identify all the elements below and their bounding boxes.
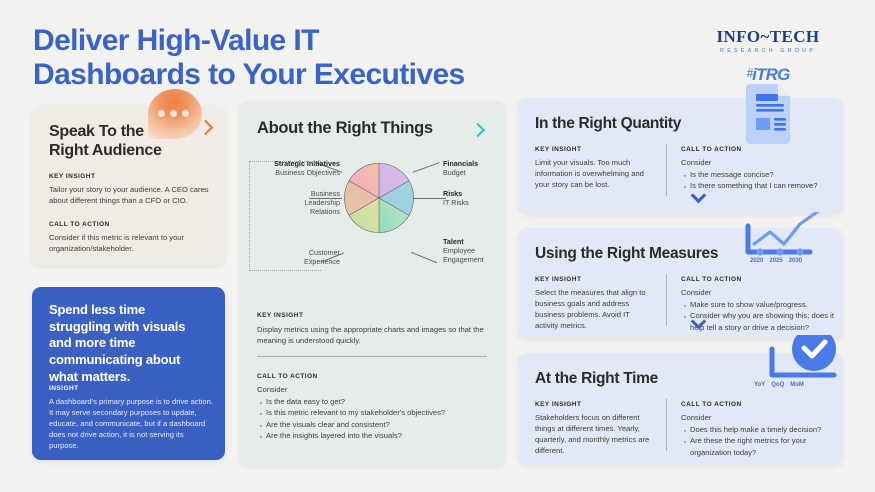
key-insight-label: KEY INSIGHT	[535, 276, 653, 283]
document-icon	[746, 82, 796, 144]
card-in-the-right-quantity[interactable]: In the Right Quantity KEY INSIGHT Limit …	[518, 98, 843, 213]
card-at-the-right-time[interactable]: At the Right Time KEY INSIGHT Stakeholde…	[518, 353, 843, 465]
list-item: Is the data easy to get?	[257, 396, 492, 407]
key-insight-label: KEY INSIGHT	[49, 173, 209, 180]
card-quote-communicate: Spend less time struggling with visuals …	[32, 287, 225, 460]
call-to-action-section: CALL TO ACTION Consider if this metric i…	[49, 221, 209, 254]
insight-text: A dashboard's primary purpose is to driv…	[49, 396, 214, 451]
key-insight-label: KEY INSIGHT	[257, 312, 485, 319]
key-insight-label: KEY INSIGHT	[535, 401, 653, 408]
pie-label-risks: Risks IT Risks	[443, 189, 505, 207]
pie-label-title: Strategic Initiatives	[274, 159, 340, 168]
key-insight-section: KEY INSIGHT Limit your visuals. Too much…	[535, 146, 653, 190]
axis-tick-label: YoY	[754, 382, 765, 388]
list-item: Is there something that I can remove?	[681, 180, 841, 191]
call-to-action-section: CALL TO ACTION Consider Does this help m…	[681, 401, 841, 458]
section-divider	[257, 356, 487, 357]
key-insight-section: KEY INSIGHT Display metrics using the ap…	[257, 312, 485, 346]
key-insight-label: KEY INSIGHT	[535, 146, 653, 153]
chevron-right-icon[interactable]	[471, 123, 485, 137]
key-insight-section: KEY INSIGHT Select the measures that ali…	[535, 276, 653, 331]
pie-chart-icon	[343, 162, 415, 234]
cta-label: CALL TO ACTION	[49, 221, 209, 228]
chart-axis-labels: 2020 2025 2030	[750, 258, 802, 264]
column-divider	[666, 144, 667, 196]
pie-label-sub: IT Risks	[443, 198, 469, 207]
call-to-action-section: CALL TO ACTION Consider Make sure to sho…	[681, 276, 841, 333]
pie-label-title: Financials	[443, 159, 478, 168]
axis-tick-label: MoM	[790, 382, 804, 388]
page-title-line1: Deliver High-Value IT	[33, 24, 319, 57]
axis-tick-label: 2020	[750, 258, 763, 264]
cta-list: Does this help make a timely decision? A…	[681, 424, 841, 458]
bubble-dots	[158, 110, 189, 117]
key-insight-section: KEY INSIGHT Tailor your story to your au…	[49, 173, 209, 206]
card-heading: About the Right Things	[257, 119, 433, 138]
list-item: Are the visuals clear and consistent?	[257, 419, 492, 430]
cta-label: CALL TO ACTION	[681, 401, 841, 408]
cta-list: Is the message concise? Is there somethi…	[681, 169, 841, 192]
pie-label-customer-experience: CustomerExperience	[244, 248, 340, 266]
pie-label-talent: Talent EmployeeEngagement	[443, 237, 505, 265]
key-insight-text: Tailor your story to your audience. A CE…	[49, 184, 209, 206]
infographic-page: Deliver High-Value IT Dashboards to Your…	[0, 0, 875, 492]
insight-label: INSIGHT	[49, 385, 214, 392]
card-heading: In the Right Quantity	[535, 115, 681, 133]
axis-tick-label: QoQ	[771, 382, 784, 388]
pie-label-financials: Financials Budget	[443, 159, 505, 177]
leader-line	[413, 162, 440, 173]
column-divider	[666, 399, 667, 451]
card-heading: At the Right Time	[535, 370, 658, 388]
axis-tick-label: 2025	[769, 258, 782, 264]
call-to-action-section: CALL TO ACTION Consider Is the message c…	[681, 146, 841, 192]
axis-tick-label: 2030	[789, 258, 802, 264]
page-title: Deliver High-Value IT Dashboards to Your…	[33, 24, 553, 92]
pie-label-sub: EmployeeEngagement	[443, 246, 484, 264]
pie-label-title: Risks	[443, 189, 462, 198]
pie-label-strategic-initiatives: Strategic Initiatives Business Objective…	[244, 159, 340, 177]
leader-line	[411, 252, 437, 263]
cta-intro: Consider	[681, 157, 841, 168]
card-heading: Using the Right Measures	[535, 245, 718, 263]
list-item: Is the message concise?	[681, 169, 841, 180]
cta-list: Is the data easy to get? Is this metric …	[257, 396, 492, 442]
key-insight-text: Limit your visuals. Too much information…	[535, 157, 653, 190]
card-using-the-right-measures[interactable]: Using the Right Measures KEY INSIGHT Sel…	[518, 228, 843, 338]
logo-wordmark: INFO~TECH	[693, 28, 843, 45]
speech-bubble-icon	[148, 89, 202, 139]
key-insight-section: KEY INSIGHT Stakeholders focus on differ…	[535, 401, 653, 456]
quote-text: Spend less time struggling with visuals …	[49, 302, 199, 385]
cta-intro: Consider	[257, 384, 492, 395]
list-item: Does this help make a timely decision?	[681, 424, 841, 435]
cta-intro: Consider	[681, 287, 841, 298]
column-divider	[666, 274, 667, 326]
cta-text: Consider if this metric is relevant to y…	[49, 232, 209, 254]
cta-label: CALL TO ACTION	[681, 276, 841, 283]
pie-label-business-leadership-relations: BusinessLeadershipRelations	[244, 189, 340, 217]
list-item: Are these the right metrics for your org…	[681, 435, 841, 458]
pie-label-title: Talent	[443, 237, 464, 246]
cta-intro: Consider	[681, 412, 841, 423]
list-item: Make sure to show value/progress.	[681, 299, 841, 310]
card-about-right-things[interactable]: About the Right Things	[240, 101, 505, 466]
leader-line	[413, 198, 446, 199]
page-title-line2: Dashboards to Your Executives	[33, 58, 553, 92]
pie-chart-figure: Strategic Initiatives Business Objective…	[240, 157, 505, 277]
chart-axis-labels: YoY QoQ MoM	[754, 382, 804, 388]
list-item: Is this metric relevant to my stakeholde…	[257, 407, 492, 418]
pie-label-sub: Business Objectives	[275, 168, 340, 177]
pie-label-sub: Budget	[443, 168, 466, 177]
cta-label: CALL TO ACTION	[257, 373, 492, 380]
list-item: Are the insights layered into the visual…	[257, 430, 492, 441]
key-insight-text: Stakeholders focus on different things a…	[535, 412, 653, 456]
logo-tagline: RESEARCH GROUP	[693, 48, 843, 54]
cta-list: Make sure to show value/progress. Consid…	[681, 299, 841, 333]
call-to-action-section: CALL TO ACTION Consider Is the data easy…	[257, 373, 492, 442]
key-insight-text: Display metrics using the appropriate ch…	[257, 324, 485, 346]
insight-section: INSIGHT A dashboard's primary purpose is…	[49, 385, 214, 451]
brand-logo: INFO~TECH RESEARCH GROUP #iTRG	[693, 28, 843, 85]
cta-label: CALL TO ACTION	[681, 146, 841, 153]
key-insight-text: Select the measures that align to busine…	[535, 287, 653, 331]
